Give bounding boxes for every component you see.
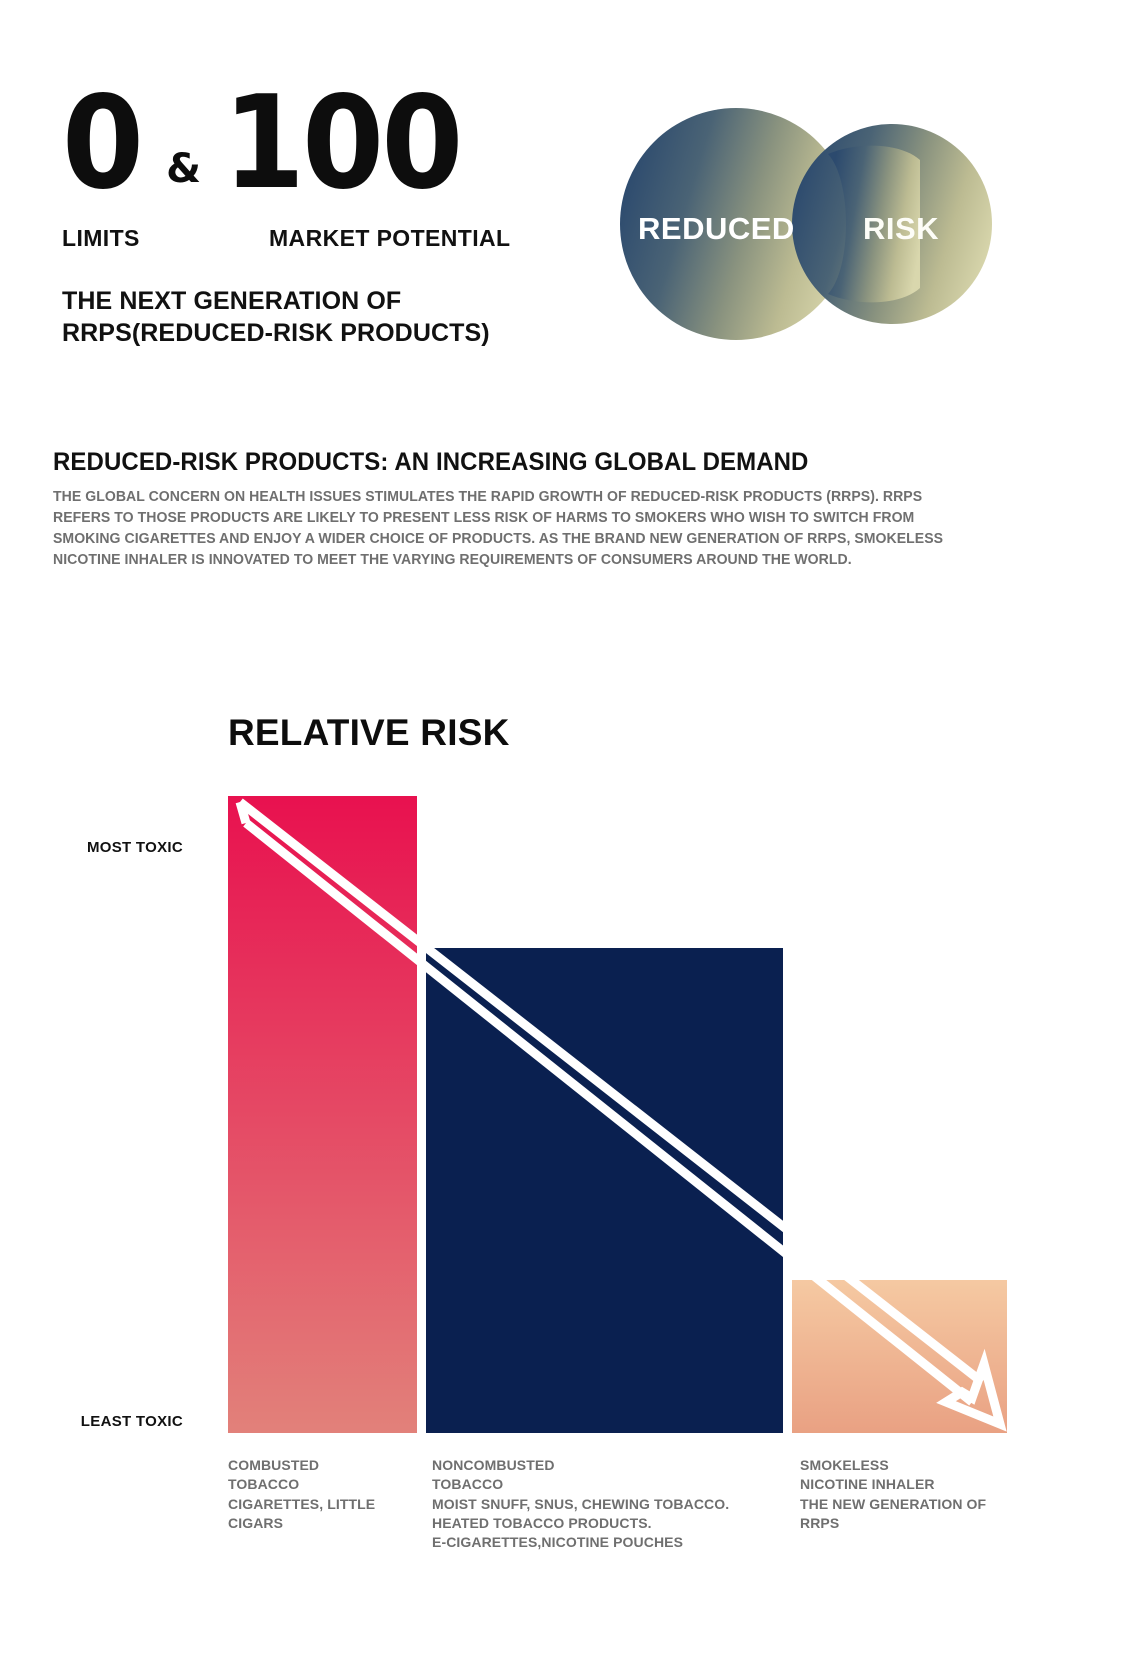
- cat2-line4: HEATED TOBACCO PRODUCTS.: [432, 1514, 792, 1533]
- section-body-line3: SMOKING CIGARETTES AND ENJOY A WIDER CHO…: [53, 529, 1013, 550]
- headline-stat-labels: LIMITS MARKET POTENTIAL: [62, 225, 602, 257]
- cat3-line3: THE NEW GENERATION OF: [800, 1495, 1015, 1514]
- header-tagline: THE NEXT GENERATION OF RRPS(REDUCED-RISK…: [62, 285, 622, 349]
- relative-risk-chart: RELATIVE RISK MOST TOXIC LEAST TOXIC COM…: [0, 680, 1122, 1610]
- bar-noncombusted-tobacco: [426, 948, 783, 1433]
- cat1-line1: COMBUSTED: [228, 1456, 423, 1475]
- header-tagline-line1: THE NEXT GENERATION OF: [62, 285, 622, 317]
- bar-smokeless-nicotine-inhaler: [792, 1280, 1007, 1433]
- category-label-combusted: COMBUSTED TOBACCO CIGARETTES, LITTLE CIG…: [228, 1456, 423, 1533]
- demand-section: REDUCED-RISK PRODUCTS: AN INCREASING GLO…: [53, 448, 1013, 572]
- cat3-line2: NICOTINE INHALER: [800, 1475, 1015, 1494]
- section-body-line2: REFERS TO THOSE PRODUCTS ARE LIKELY TO P…: [53, 508, 1013, 529]
- category-label-noncombusted: NONCOMBUSTED TOBACCO MOIST SNUFF, SNUS, …: [432, 1456, 792, 1553]
- stat-hundred: 100: [223, 92, 461, 197]
- reduced-risk-logo: REDUCED RISK: [620, 108, 992, 340]
- cat1-line2: TOBACCO: [228, 1475, 423, 1494]
- cat3-line1: SMOKELESS: [800, 1456, 1015, 1475]
- bar-combusted-tobacco: [228, 796, 417, 1433]
- cat1-line3: CIGARETTES, LITTLE: [228, 1495, 423, 1514]
- stat-zero-label: LIMITS: [62, 225, 140, 252]
- stat-zero: 0: [62, 92, 141, 197]
- cat2-line2: TOBACCO: [432, 1475, 792, 1494]
- headline-stats: 0 & 100: [62, 92, 481, 197]
- logo-word-risk: RISK: [863, 211, 939, 247]
- infographic-page: 0 & 100 LIMITS MARKET POTENTIAL THE NEXT…: [0, 0, 1122, 1654]
- cat1-line4: CIGARS: [228, 1514, 423, 1533]
- cat3-line4: RRPS: [800, 1514, 1015, 1533]
- header-tagline-line2: RRPS(REDUCED-RISK PRODUCTS): [62, 317, 622, 349]
- stat-hundred-label: MARKET POTENTIAL: [269, 225, 511, 252]
- section-body-line4: NICOTINE INHALER IS INNOVATED TO MEET TH…: [53, 550, 1013, 571]
- logo-text-group: REDUCED RISK: [620, 108, 992, 340]
- category-label-smokeless: SMOKELESS NICOTINE INHALER THE NEW GENER…: [800, 1456, 1015, 1533]
- cat2-line3: MOIST SNUFF, SNUS, CHEWING TOBACCO.: [432, 1495, 792, 1514]
- section-body-line1: THE GLOBAL CONCERN ON HEALTH ISSUES STIM…: [53, 487, 1013, 508]
- cat2-line5: E-CIGARETTES,NICOTINE POUCHES: [432, 1533, 792, 1552]
- section-title: REDUCED-RISK PRODUCTS: AN INCREASING GLO…: [53, 448, 975, 477]
- ampersand-symbol: &: [148, 149, 217, 197]
- header-section: 0 & 100 LIMITS MARKET POTENTIAL THE NEXT…: [0, 0, 1122, 380]
- logo-word-reduced: REDUCED: [638, 211, 795, 247]
- cat2-line1: NONCOMBUSTED: [432, 1456, 792, 1475]
- section-body: THE GLOBAL CONCERN ON HEALTH ISSUES STIM…: [53, 487, 1013, 572]
